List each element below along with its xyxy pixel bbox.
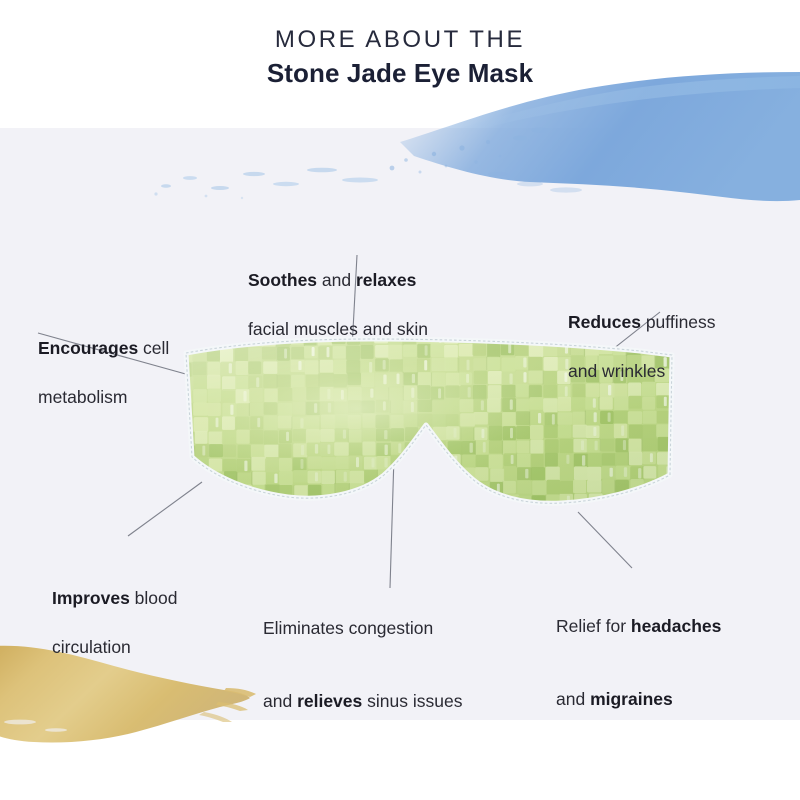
callout-reduces-line2: and wrinkles (568, 359, 716, 383)
callout-eliminates-line2: and relieves sinus issues (263, 664, 462, 712)
callout-encourages-line1: Encourages cell (38, 312, 169, 360)
callout-eliminates-bold: relieves (297, 691, 362, 711)
callout-relief-bold-b: migraines (590, 689, 673, 709)
callout-encourages-mid: cell (138, 338, 169, 358)
callout-improves-line1: Improves blood (52, 562, 178, 610)
callout-encourages: Encourages cell metabolism (38, 288, 169, 433)
callout-relief-pre: Relief for (556, 616, 631, 636)
callout-relief-bold-a: headaches (631, 616, 721, 636)
callout-improves-line2: circulation (52, 635, 178, 659)
page-title: Stone Jade Eye Mask (0, 56, 800, 91)
callout-relief: Relief for headaches and migraines (556, 566, 721, 735)
callout-improves: Improves blood circulation (52, 538, 178, 683)
callout-soothes-bold-b: relaxes (356, 270, 416, 290)
callout-relief-line1: Relief for headaches (556, 590, 721, 638)
callout-eliminates-post: sinus issues (362, 691, 462, 711)
callout-improves-bold-a: Improves (52, 588, 130, 608)
heading-block: MORE ABOUT THE Stone Jade Eye Mask (0, 26, 800, 91)
callout-soothes-bold-a: Soothes (248, 270, 317, 290)
callout-reduces: Reduces puffiness and wrinkles (568, 262, 716, 407)
callout-encourages-bold-a: Encourages (38, 338, 138, 358)
callout-improves-mid: blood (130, 588, 178, 608)
callout-soothes-line1: Soothes and relaxes (248, 244, 428, 292)
callout-soothes: Soothes and relaxes facial muscles and s… (248, 220, 428, 365)
callout-encourages-line2: metabolism (38, 385, 169, 409)
callout-reduces-bold-a: Reduces (568, 312, 641, 332)
infographic-canvas: MORE ABOUT THE Stone Jade Eye Mask Sooth… (0, 0, 800, 800)
callout-reduces-mid: puffiness (641, 312, 716, 332)
callout-soothes-line2: facial muscles and skin (248, 317, 428, 341)
heading-eyebrow: MORE ABOUT THE (0, 26, 800, 54)
callout-eliminates-line1: Eliminates congestion (263, 616, 462, 640)
callout-soothes-mid: and (317, 270, 356, 290)
callout-relief-line2-pre: and (556, 689, 590, 709)
callout-relief-line2: and migraines (556, 663, 721, 711)
callout-reduces-line1: Reduces puffiness (568, 286, 716, 334)
callout-eliminates-pre: and (263, 691, 297, 711)
callout-eliminates: Eliminates congestion and relieves sinus… (263, 592, 462, 737)
